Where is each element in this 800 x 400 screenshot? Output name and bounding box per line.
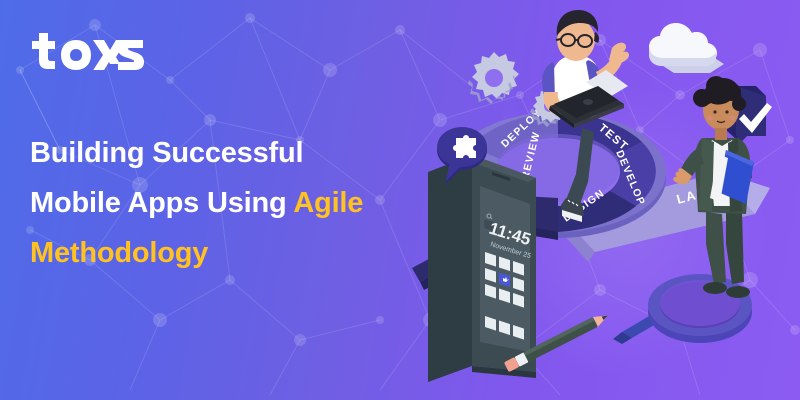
promo-banner: toXSL Building Successful Mobile Apps Us… — [0, 0, 800, 400]
headline-line-1-text: Building Successful — [30, 137, 303, 169]
toxsl-logo-mark — [30, 30, 146, 70]
cloud-icon — [649, 23, 724, 73]
headline: Building Successful Mobile Apps Using Ag… — [30, 128, 430, 278]
smartphone: 11:45 November 25 — [428, 155, 536, 382]
headline-line-1: Building Successful — [30, 128, 430, 178]
toxsl-logo[interactable]: toXSL — [30, 30, 146, 76]
headline-line-3: Methodology — [30, 228, 430, 278]
headline-line-2: Mobile Apps Using Agile — [30, 178, 430, 228]
headline-line-2-accent: Agile — [293, 187, 363, 219]
gear-large-icon — [468, 52, 519, 104]
headline-line-3-accent: Methodology — [30, 237, 208, 269]
magnifier-icon — [613, 274, 752, 344]
headline-line-2-text: Mobile Apps Using — [30, 187, 293, 219]
agile-cycle-illustration: LAUNCH R — [410, 0, 800, 400]
